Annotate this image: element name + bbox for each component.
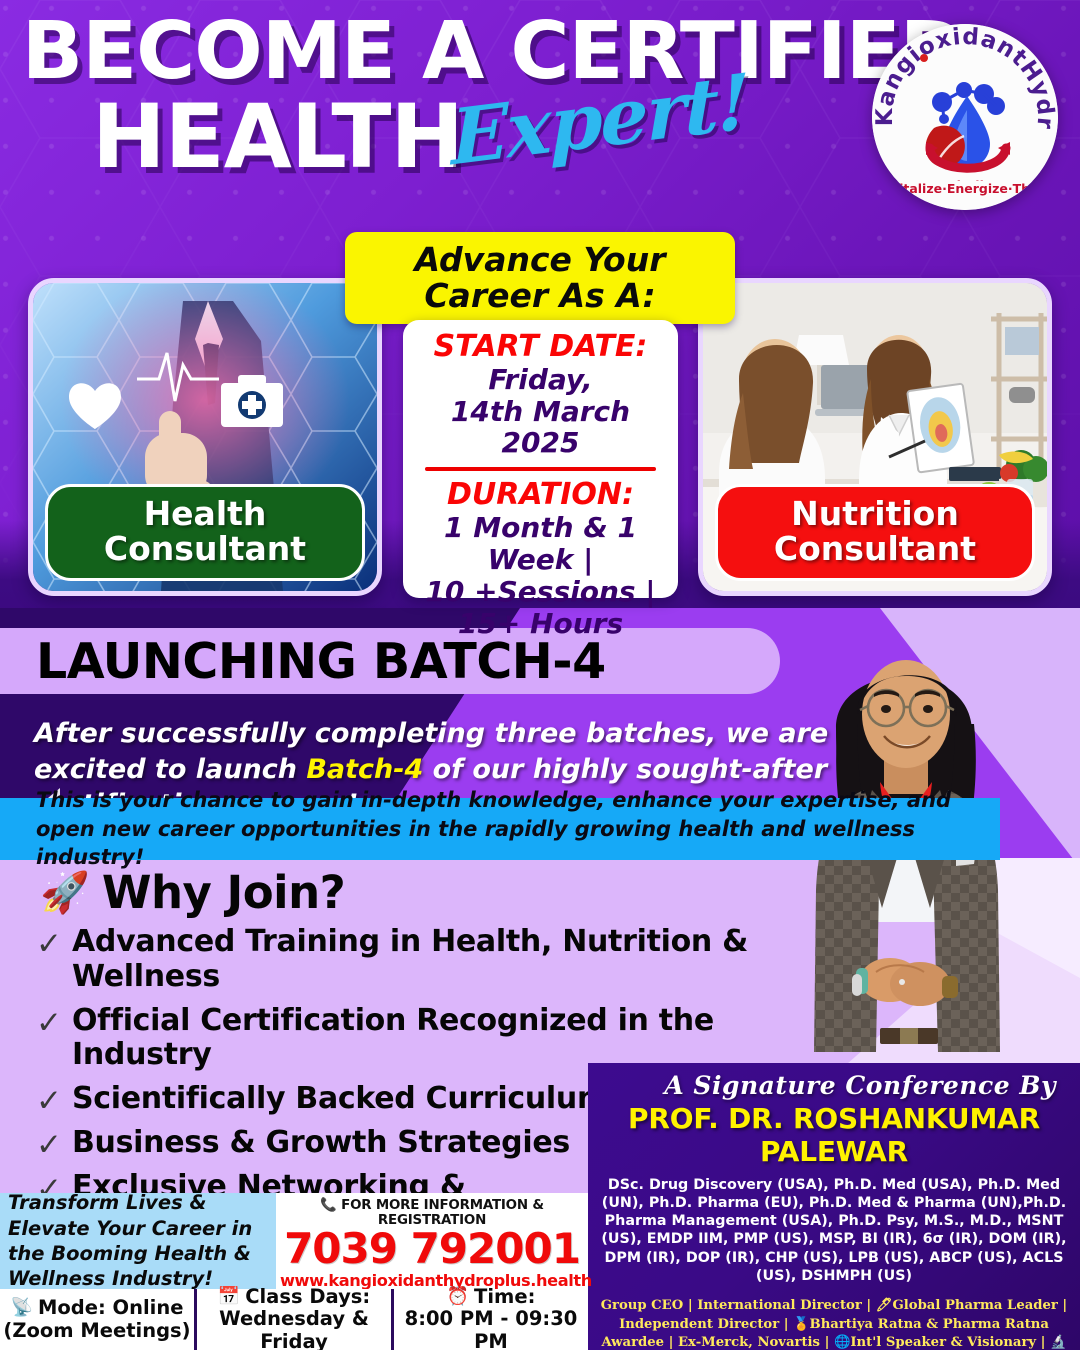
mode-value: (Zoom Meetings) (3, 1320, 190, 1342)
signature-conference-label: A Signature Conference By (598, 1071, 1070, 1100)
days-row: 📅 Class Days: (218, 1286, 370, 1308)
schedule-days-cell: 📅 Class Days: Wednesday & Friday (197, 1289, 394, 1350)
page-title-line2: HEALTH (92, 93, 463, 181)
page-title-line2-row: HEALTH Expert! (30, 93, 860, 203)
nutrition-consultant-card[interactable]: Nutrition Consultant (698, 278, 1052, 596)
check-icon: ✓ (36, 1086, 62, 1117)
blue-note-text: This is your chance to gain in-depth kno… (36, 786, 1000, 871)
start-date-label: START DATE: (411, 330, 670, 364)
duration-line1: 1 Month & 1 Week | (411, 512, 670, 576)
launching-batch-text: LAUNCHING BATCH-4 (36, 633, 606, 690)
speaker-degrees: DSc. Drug Discovery (USA), Ph.D. Med (US… (598, 1176, 1070, 1285)
advance-career-line2: Career As A: (424, 278, 655, 314)
speaker-name: PROF. DR. ROSHANKUMAR PALEWAR (598, 1102, 1070, 1168)
tagline-text: Transform Lives & Elevate Your Career in… (8, 1190, 268, 1291)
phone-icon: 📞 (320, 1198, 336, 1213)
course-details-card: START DATE: Friday, 14th March 2025 DURA… (403, 320, 678, 598)
duration-line3: 15+ Hours (411, 608, 670, 640)
why-join-heading: Why Join? (102, 866, 345, 919)
days-value: Wednesday & Friday (200, 1308, 388, 1350)
alarm-clock-icon: ⏰ (447, 1287, 469, 1308)
start-date-line1: Friday, (411, 364, 670, 396)
check-icon: ✓ (36, 1130, 62, 1161)
phone-number[interactable]: 7039 792001 (280, 1228, 584, 1271)
satellite-icon: 📡 (11, 1298, 33, 1319)
schedule-bar: 📡 Mode: Online (Zoom Meetings) 📅 Class D… (0, 1289, 588, 1350)
mode-label: Mode: Online (38, 1297, 184, 1319)
divider (425, 467, 656, 471)
health-consultant-card[interactable]: Health Consultant (28, 278, 382, 596)
check-icon: ✓ (36, 1008, 62, 1039)
list-item: ✓ Advanced Training in Health, Nutrition… (36, 925, 826, 995)
flyer-root: BECOME A CERTIFIED HEALTH Expert! Kangio… (0, 0, 1080, 1350)
nutrition-label-line2: Consultant (774, 529, 976, 568)
time-value: 8:00 PM - 09:30 PM (397, 1308, 585, 1350)
start-date-line2: 14th March 2025 (411, 396, 670, 460)
mode-row: 📡 Mode: Online (11, 1297, 184, 1319)
intro-highlight: Batch-4 (306, 754, 423, 785)
time-label: Time: (474, 1286, 535, 1308)
duration-label: DURATION: (411, 478, 670, 512)
nutrition-consultant-label: Nutrition Consultant (715, 484, 1035, 581)
time-row: ⏰ Time: (447, 1286, 536, 1308)
days-label: Class Days: (245, 1286, 370, 1308)
benefit-text: Business & Growth Strategies (72, 1126, 570, 1161)
health-consultant-label: Health Consultant (45, 484, 365, 581)
advance-career-line1: Advance Your (415, 242, 666, 278)
nutrition-label-line1: Nutrition (791, 494, 959, 533)
logo-tagline: Revitalize·Energize·Thrive (872, 181, 1058, 196)
speaker-roles: Group CEO | International Director | 🖊Gl… (598, 1297, 1070, 1350)
advance-career-banner: Advance Your Career As A: (345, 232, 735, 324)
schedule-mode-cell: 📡 Mode: Online (Zoom Meetings) (0, 1289, 197, 1350)
why-join-heading-group: 🚀 Why Join? (40, 866, 345, 919)
check-icon: ✓ (36, 929, 62, 960)
benefit-text: Advanced Training in Health, Nutrition &… (72, 925, 826, 995)
header-title-group: BECOME A CERTIFIED HEALTH Expert! (30, 14, 860, 203)
health-label-line1: Health (144, 494, 267, 533)
tagline-box: Transform Lives & Elevate Your Career in… (0, 1193, 276, 1289)
brand-logo: KangioxidantHydro+ Revitalize (872, 24, 1058, 210)
speaker-credentials-panel: A Signature Conference By PROF. DR. ROSH… (588, 1063, 1080, 1350)
health-label-line2: Consultant (104, 529, 306, 568)
blue-note-banner: This is your chance to gain in-depth kno… (0, 798, 1000, 860)
rocket-icon: 🚀 (40, 873, 90, 913)
benefit-text: Scientifically Backed Curriculum (72, 1082, 608, 1117)
registration-box[interactable]: 📞 FOR MORE INFORMATION & REGISTRATION 70… (276, 1193, 588, 1289)
schedule-time-cell: ⏰ Time: 8:00 PM - 09:30 PM (394, 1289, 588, 1350)
duration-line2: 10 +Sessions | (411, 576, 670, 608)
calendar-icon: 📅 (218, 1287, 240, 1308)
